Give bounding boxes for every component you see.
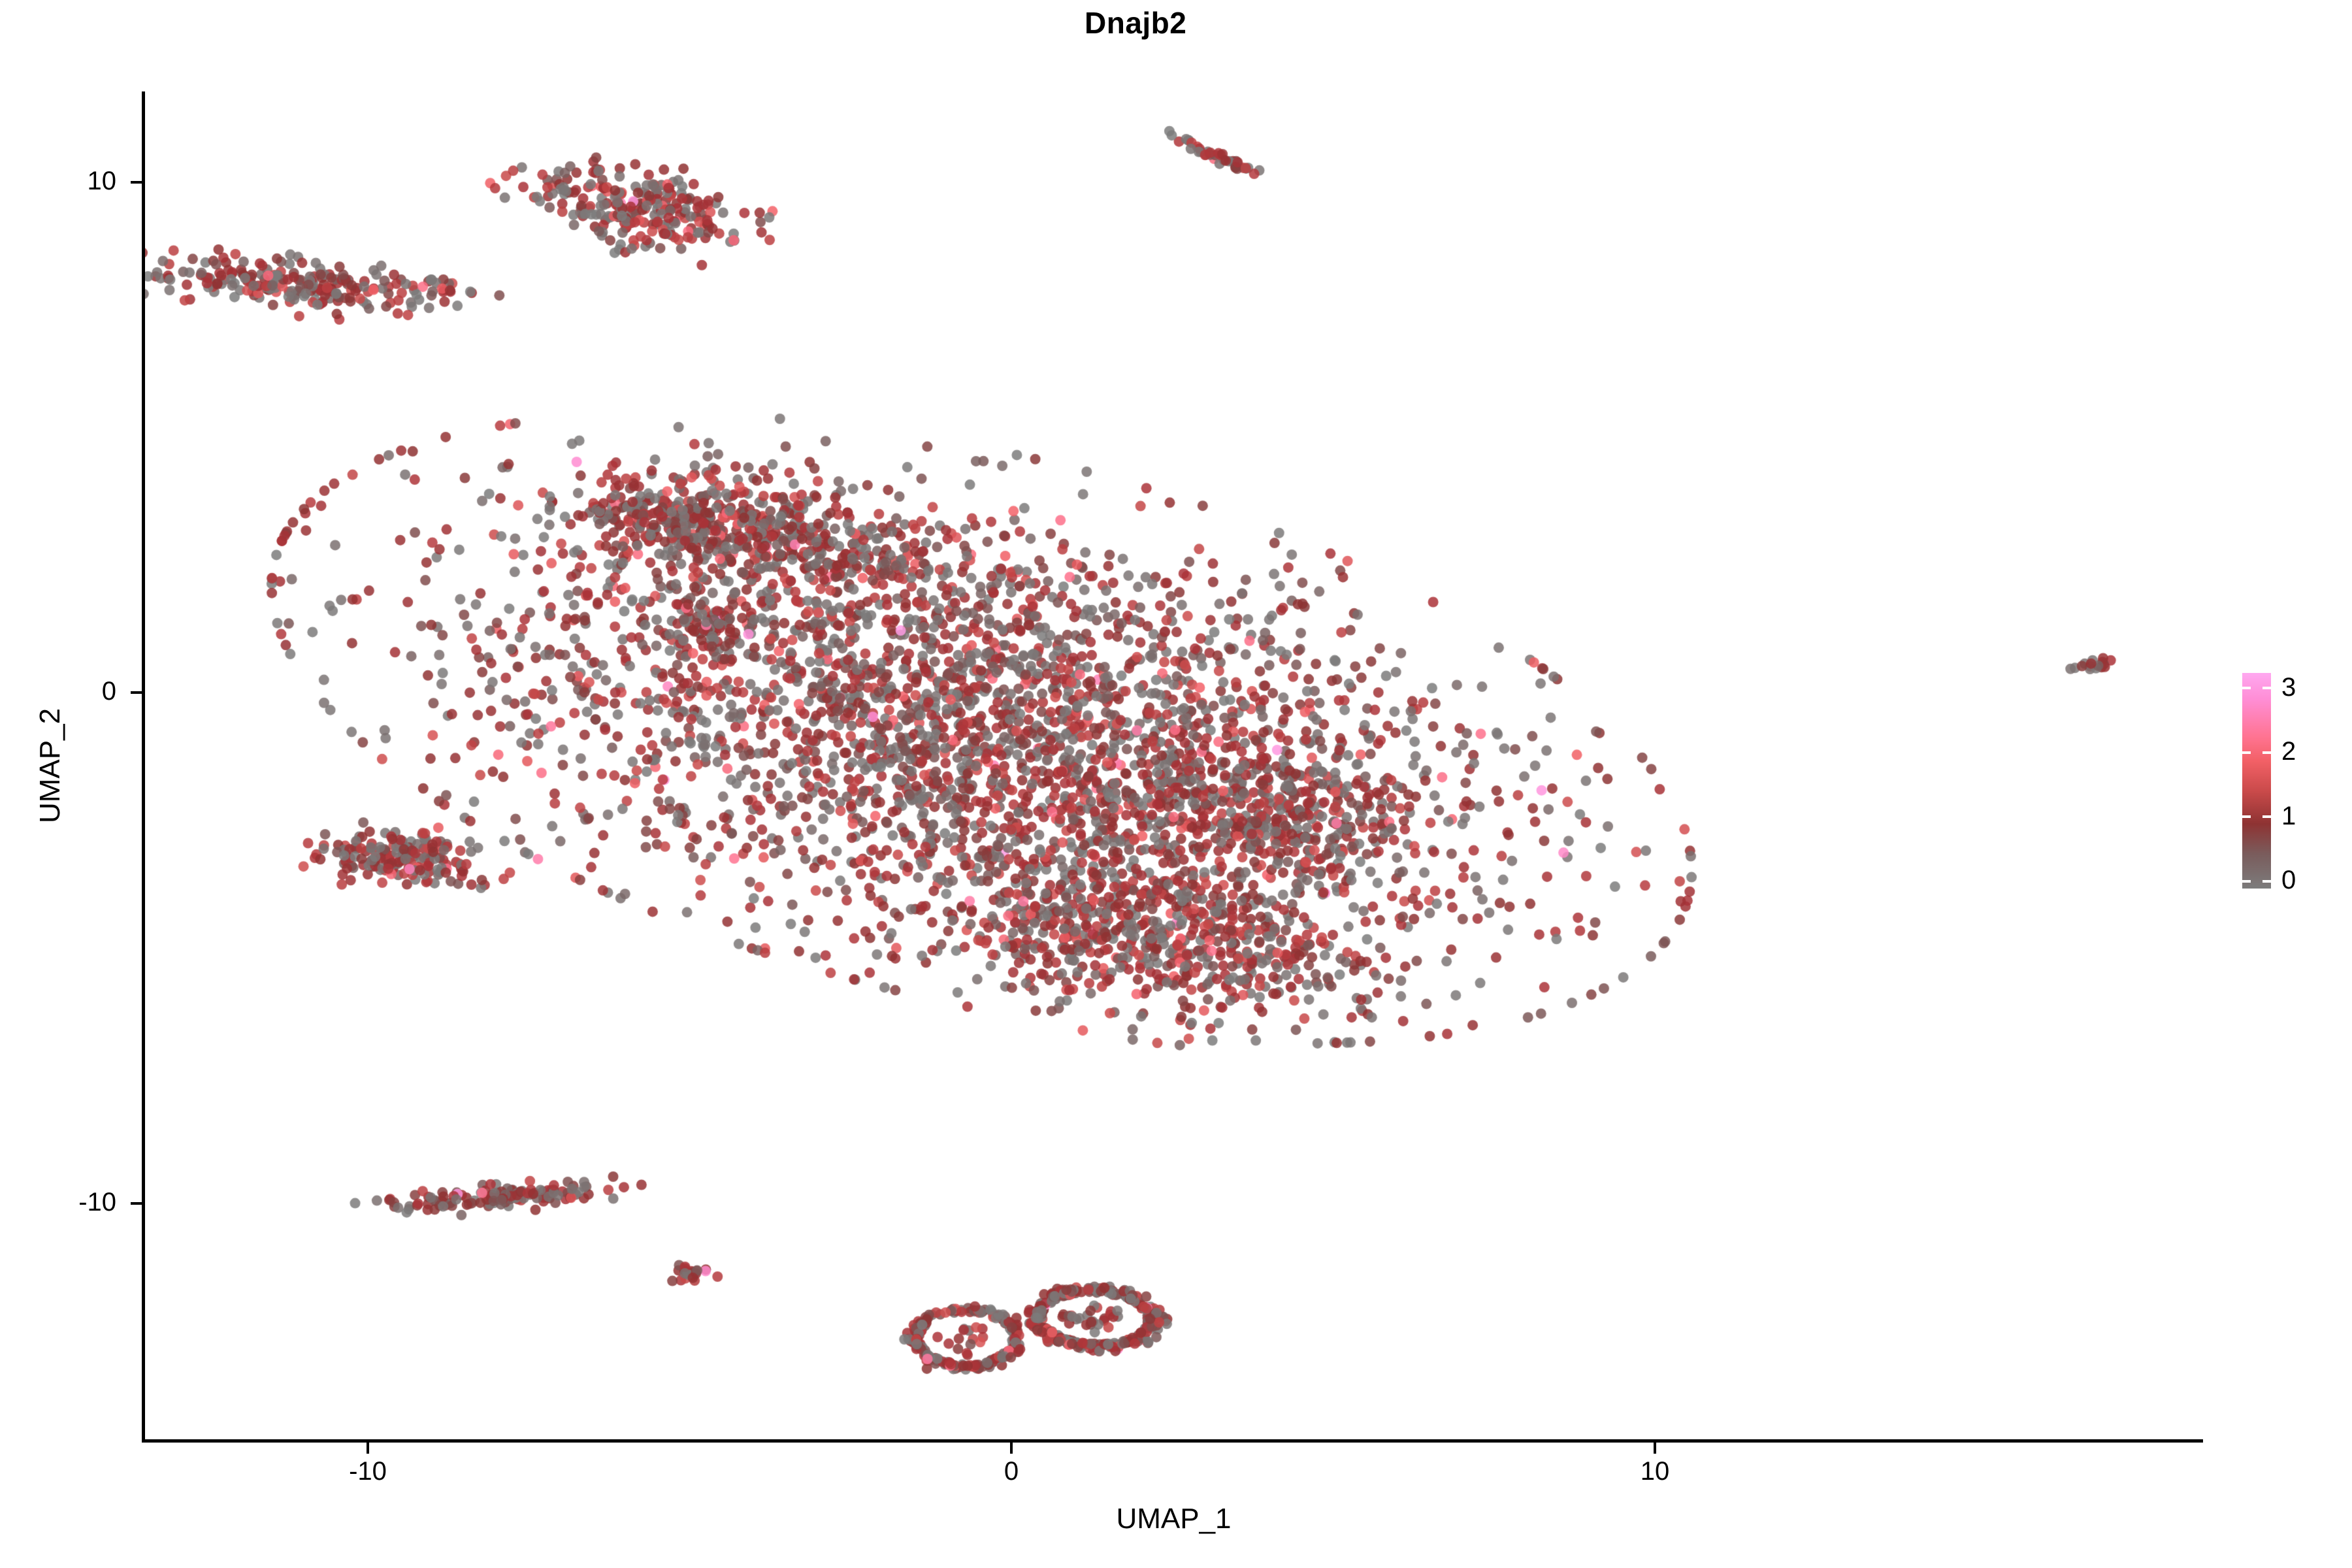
colorbar-legend: 3 2 1 0 (2242, 673, 2340, 889)
x-tick-label-neg10: -10 (302, 1458, 433, 1484)
y-tick-mark-neg10 (131, 1202, 142, 1205)
y-tick-label-neg10: -10 (18, 1189, 116, 1215)
scatter-canvas (144, 91, 2203, 1441)
y-axis-title: UMAP_2 (34, 708, 67, 823)
colorbar-tick-0-right (2262, 880, 2271, 883)
y-tick-label-10: 10 (18, 168, 116, 194)
plot-panel (144, 91, 2203, 1441)
umap-feature-plot: Dnajb2 10 0 -10 -10 0 10 UMAP_1 UMAP_2 3… (0, 0, 2352, 1568)
colorbar-label-1: 1 (2281, 803, 2296, 829)
colorbar-gradient (2242, 673, 2271, 889)
page-title: Dnajb2 (1085, 5, 1673, 41)
x-tick-mark-10 (1654, 1443, 1656, 1454)
y-axis-line (142, 91, 145, 1443)
colorbar-tick-2-left (2242, 751, 2251, 754)
x-tick-mark-0 (1010, 1443, 1013, 1454)
x-axis-line (142, 1439, 2203, 1443)
x-tick-label-10: 10 (1590, 1458, 1720, 1484)
y-tick-label-0: 0 (18, 678, 116, 704)
y-tick-mark-10 (131, 181, 142, 184)
colorbar-tick-3-right (2262, 687, 2271, 689)
x-axis-title: UMAP_1 (144, 1503, 2203, 1535)
colorbar-label-3: 3 (2281, 674, 2296, 700)
colorbar-tick-1-right (2262, 815, 2271, 818)
y-tick-mark-0 (131, 691, 142, 694)
colorbar-label-0: 0 (2281, 867, 2296, 893)
x-tick-mark-neg10 (367, 1443, 369, 1454)
colorbar-label-2: 2 (2281, 738, 2296, 764)
x-tick-label-0: 0 (946, 1458, 1077, 1484)
colorbar-tick-0-left (2242, 880, 2251, 883)
colorbar-tick-2-right (2262, 751, 2271, 754)
colorbar-tick-1-left (2242, 815, 2251, 818)
colorbar-tick-3-left (2242, 687, 2251, 689)
